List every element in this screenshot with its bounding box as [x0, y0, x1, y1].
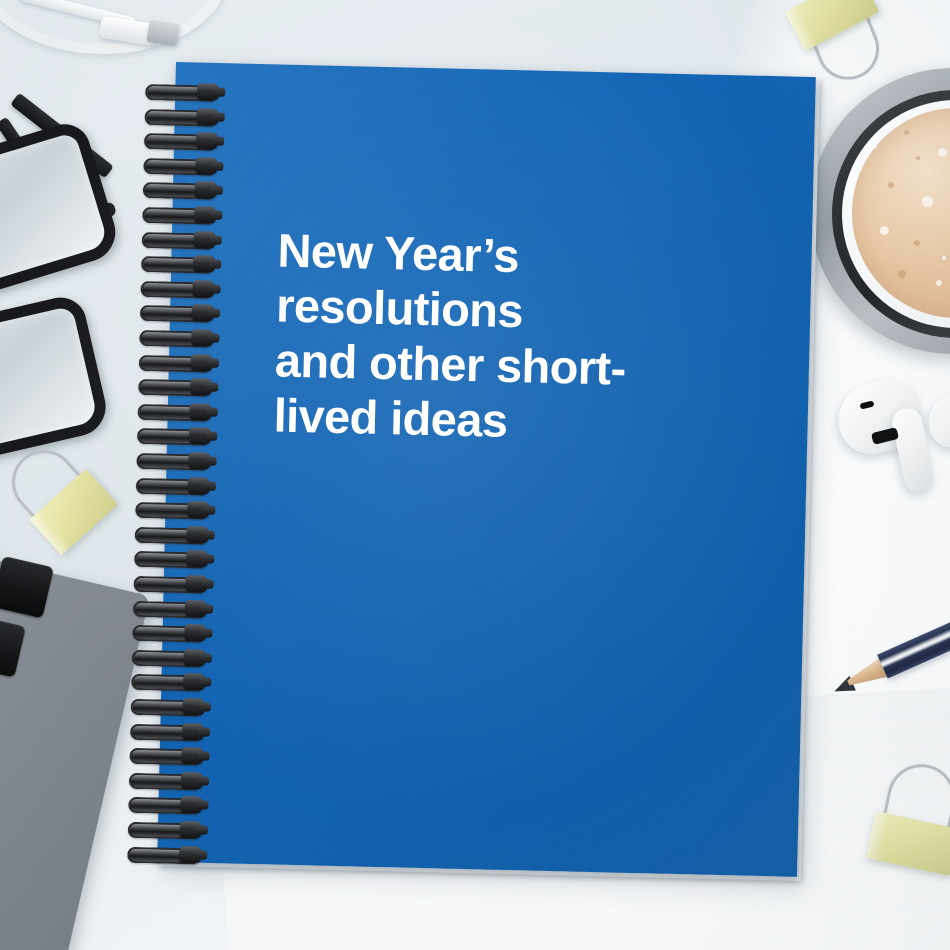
coil-tail — [206, 383, 218, 392]
spiral-coil — [129, 746, 211, 765]
spiral-coil — [139, 353, 221, 372]
coil-tail — [196, 825, 208, 834]
notebook-cover[interactable] — [157, 62, 816, 877]
spiral-coil — [128, 795, 210, 814]
spiral-coil — [141, 254, 223, 273]
desk-scene: F19 * − 6 + 3 . enter New Year’s resolut… — [0, 0, 950, 950]
spiral-coil — [145, 107, 227, 126]
spiral-notebook[interactable]: New Year’s resolutions and other short- … — [157, 62, 816, 877]
spiral-coil — [137, 426, 219, 445]
coil-tail — [209, 284, 221, 293]
crema-bubble — [936, 280, 942, 286]
crema-bubble — [914, 240, 920, 246]
coil-tail — [198, 752, 210, 761]
coil-tail — [197, 776, 209, 785]
coil-tail — [210, 235, 222, 244]
spiral-coil — [133, 598, 215, 617]
spiral-coil — [131, 697, 213, 716]
spiral-coil — [131, 672, 213, 691]
spiral-coil — [140, 279, 222, 298]
coil-tail — [202, 555, 214, 564]
spiral-coil — [140, 303, 222, 322]
glasses-lens — [0, 118, 123, 302]
crema-bubble — [916, 156, 920, 160]
coil-tail — [203, 506, 215, 515]
crema-bubble — [938, 148, 947, 157]
coil-tail — [205, 432, 217, 441]
spiral-coil — [135, 525, 217, 544]
spiral-coil — [134, 549, 216, 568]
crema-bubble — [888, 182, 894, 188]
coil-tail — [212, 137, 224, 146]
spiral-coil — [132, 648, 214, 667]
notebook-title: New Year’s resolutions and other short- … — [273, 222, 698, 452]
coil-tail — [202, 579, 214, 588]
spiral-coil — [129, 771, 211, 790]
crema-bubble — [942, 256, 946, 260]
crema-bubble — [870, 142, 877, 149]
spiral-coil — [136, 451, 218, 470]
coil-tail — [206, 407, 218, 416]
spiral-coil — [130, 721, 212, 740]
crema-bubble — [898, 270, 906, 278]
spiral-coil — [128, 820, 210, 839]
spiral-coil — [142, 230, 224, 249]
spiral-binding — [126, 60, 256, 892]
coil-tail — [209, 260, 221, 269]
coil-tail — [213, 112, 225, 121]
spiral-coil — [136, 475, 218, 494]
spiral-coil — [142, 205, 224, 224]
coil-tail — [198, 727, 210, 736]
coffee-cup — [826, 82, 950, 342]
spiral-coil — [138, 377, 220, 396]
coil-tail — [210, 211, 222, 220]
spiral-coil — [127, 844, 209, 863]
coil-tail — [204, 456, 216, 465]
spiral-coil — [132, 623, 214, 642]
coil-tail — [203, 530, 215, 539]
cable-connector-tip — [146, 20, 179, 46]
coil-tail — [199, 678, 211, 687]
coil-tail — [213, 88, 225, 97]
coil-tail — [204, 481, 216, 490]
spiral-coil — [139, 328, 221, 347]
spiral-coil — [135, 500, 217, 519]
coil-tail — [195, 850, 207, 859]
coil-tail — [196, 801, 208, 810]
crema-bubble — [880, 226, 889, 235]
coil-tail — [207, 334, 219, 343]
wireless-earbuds — [832, 376, 950, 506]
spiral-coil — [143, 180, 225, 199]
spiral-coil — [133, 574, 215, 593]
cover-sheen — [157, 62, 816, 877]
coil-tail — [199, 702, 211, 711]
coil-tail — [211, 161, 223, 170]
coil-tail — [211, 186, 223, 195]
spiral-coil — [144, 131, 226, 150]
coil-tail — [200, 653, 212, 662]
crema-bubble — [904, 130, 909, 135]
spiral-coil — [143, 156, 225, 175]
crema-bubble — [922, 196, 933, 207]
coil-tail — [208, 309, 220, 318]
coil-tail — [200, 629, 212, 638]
spiral-coil — [138, 402, 220, 421]
coil-tail — [201, 604, 213, 613]
spiral-coil — [145, 82, 227, 101]
coil-tail — [207, 358, 219, 367]
